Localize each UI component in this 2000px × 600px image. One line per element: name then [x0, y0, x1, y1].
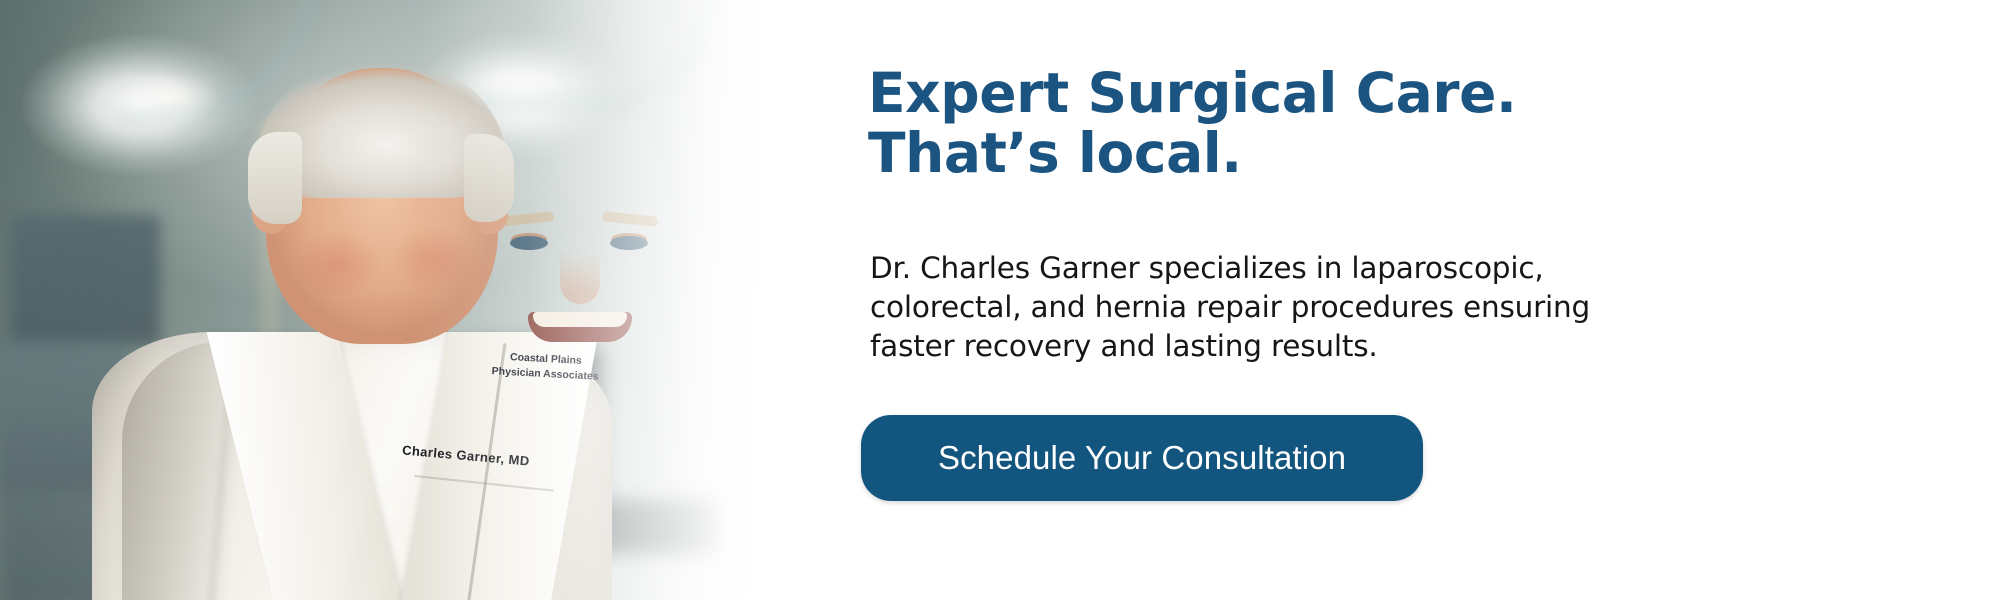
coat-pocket [402, 475, 554, 600]
teeth [533, 312, 627, 327]
eye-left [510, 236, 548, 250]
hero-headline: Expert Surgical Care. That’s local. [868, 64, 1517, 184]
hero-content: Expert Surgical Care. That’s local. Dr. … [868, 0, 2000, 600]
nose-shape [560, 250, 600, 304]
smiling-mouth [528, 312, 632, 342]
doctor-hero-photo: Charles Garner, MD Coastal Plains Physic… [0, 0, 800, 600]
coat-practice-embroidery: Coastal Plains Physician Associates [491, 349, 599, 384]
hair-side-left [248, 132, 302, 224]
hero-subcopy: Dr. Charles Garner specializes in laparo… [870, 249, 1590, 366]
schedule-consultation-button[interactable]: Schedule Your Consultation [861, 415, 1423, 501]
eye-right [610, 236, 648, 250]
hair-side-right [464, 134, 514, 222]
white-lab-coat: Charles Garner, MD Coastal Plains Physic… [92, 332, 612, 600]
doctor-figure: Charles Garner, MD Coastal Plains Physic… [70, 40, 630, 600]
hero-banner: Charles Garner, MD Coastal Plains Physic… [0, 0, 2000, 600]
